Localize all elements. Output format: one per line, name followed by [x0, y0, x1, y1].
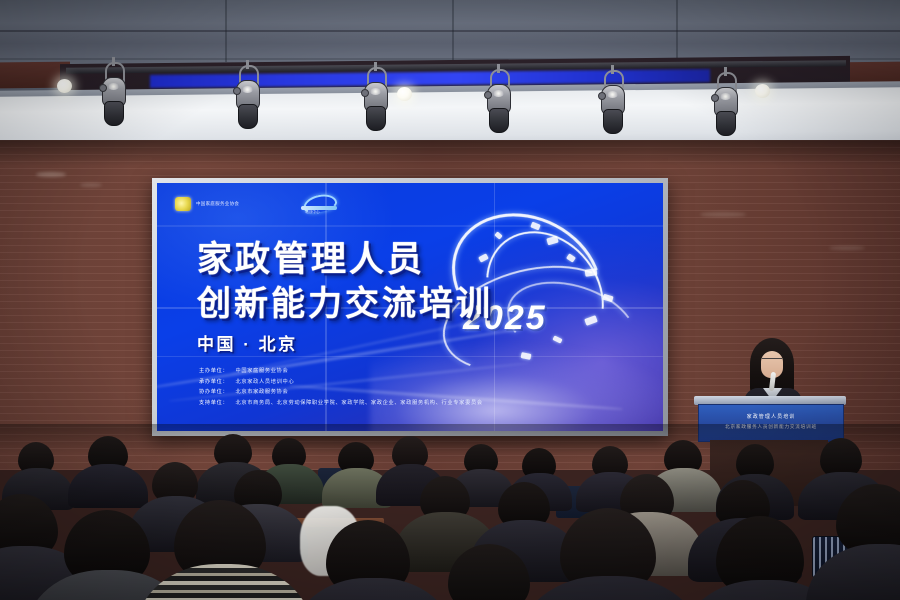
ceiling-bulb: [397, 87, 412, 101]
video-wall-bezel: 中国家庭服务业协会 培训中心: [152, 178, 668, 436]
slide-info-row: 承办单位： 北京家政人员培训中心: [199, 378, 483, 385]
slide-info-label: 主办单位：: [199, 367, 228, 374]
ceiling-bulb: [57, 79, 72, 93]
organizer-logo-mark: [175, 197, 191, 211]
stage-spotlight: [710, 72, 740, 138]
slide-info-label: 承办单位：: [199, 378, 228, 385]
sponsor-logo-bar: [301, 206, 337, 210]
stage-spotlight: [597, 70, 627, 136]
ceiling-bulb: [755, 84, 770, 98]
presentation-slide: 中国家庭服务业协会 培训中心: [157, 183, 663, 431]
slide-title-line2: 创新能力交流培训: [197, 285, 493, 323]
organizer-logo: 中国家庭服务业协会: [175, 197, 239, 211]
stage-spotlight: [232, 65, 262, 131]
slide-title-line1: 家政管理人员: [197, 241, 493, 279]
speaker-glasses: [762, 358, 782, 365]
conference-hall-photo: 中国家庭服务业协会 培训中心: [0, 0, 900, 600]
slide-location: 中国 · 北京: [197, 330, 493, 355]
slide-divider: [157, 356, 663, 357]
stage-spotlight: [360, 67, 390, 133]
wall-scuff: [80, 183, 102, 187]
stage-spotlight: [483, 69, 513, 135]
slide-info-value: 北京市家政服务协会: [235, 388, 288, 395]
slide-logos: 中国家庭服务业协会 培训中心: [175, 194, 345, 214]
slide-info-label: 协办单位：: [199, 388, 228, 395]
wall-top-shadow: [0, 140, 900, 166]
slide-info-value: 北京家政人员培训中心: [235, 378, 294, 385]
wall-scuff: [36, 172, 66, 177]
slide-info-row: 协办单位： 北京市家政服务协会: [199, 388, 483, 395]
slide-info-value: 中国家庭服务业协会: [235, 367, 288, 374]
audience-shoulders: [136, 564, 312, 600]
audience: [0, 424, 900, 600]
audience-shoulders: [292, 578, 454, 600]
slide-info-block: 主办单位： 中国家庭服务业协会 承办单位： 北京家政人员培训中心 协办单位： 北…: [199, 367, 483, 409]
slide-title-block: 家政管理人员 创新能力交流培训 中国 · 北京: [197, 241, 493, 355]
podium-line-1: 家政管理人员培训: [699, 413, 843, 420]
slide-info-value: 北京市商务局、北京劳动保障职业学院、家政学院、家政企业、家政服务机构、行业专家委…: [235, 399, 482, 406]
slide-info-row: 支持单位： 北京市商务局、北京劳动保障职业学院、家政学院、家政企业、家政服务机构…: [199, 399, 483, 406]
sponsor-logo: 培训中心: [299, 194, 345, 214]
organizer-logo-label: 中国家庭服务业协会: [196, 201, 239, 207]
sponsor-logo-label: 培训中心: [305, 210, 319, 215]
wall-scuff: [700, 212, 746, 217]
stage-spotlight: [98, 62, 128, 128]
slide-info-row: 主办单位： 中国家庭服务业协会: [199, 367, 483, 374]
slide-info-label: 支持单位：: [199, 399, 228, 406]
wall-scuff: [829, 246, 865, 250]
audience-shoulders: [68, 464, 148, 508]
